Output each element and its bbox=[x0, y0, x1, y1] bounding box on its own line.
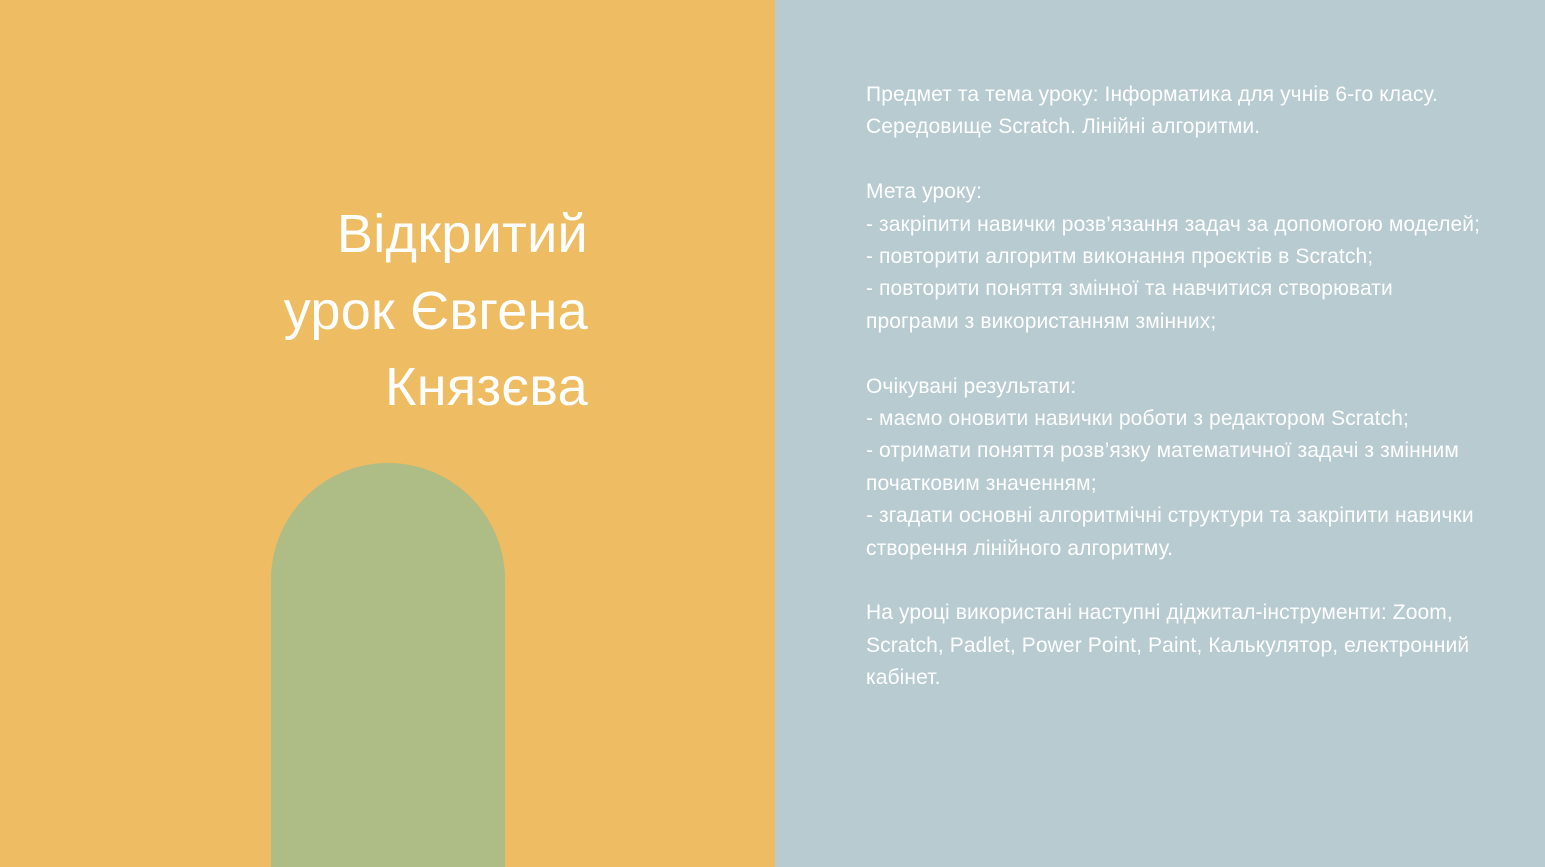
title-container: Відкритий урок Євгена Князєва bbox=[0, 0, 775, 426]
paragraph-spacer bbox=[866, 144, 1486, 176]
expected-results-heading: Очікувані результати: bbox=[866, 371, 1486, 403]
lesson-details-text: Предмет та тема уроку: Інформатика для у… bbox=[866, 79, 1486, 695]
left-panel: Відкритий урок Євгена Князєва bbox=[0, 0, 775, 867]
subject-and-topic-paragraph: Предмет та тема уроку: Інформатика для у… bbox=[866, 79, 1486, 144]
slide-title: Відкритий урок Євгена Князєва bbox=[0, 0, 588, 426]
goal-list: - закріпити навички розв’язання задач за… bbox=[866, 209, 1486, 339]
right-panel: Предмет та тема уроку: Інформатика для у… bbox=[775, 0, 1545, 867]
goal-heading: Мета уроку: bbox=[866, 176, 1486, 208]
expected-results-list: - маємо оновити навички роботи з редакто… bbox=[866, 403, 1486, 565]
arch-decoration-shape bbox=[271, 463, 505, 867]
digital-tools-paragraph: На уроці використані наступні діджитал-і… bbox=[866, 597, 1486, 694]
paragraph-spacer bbox=[866, 565, 1486, 597]
presentation-slide: Відкритий урок Євгена Князєва Предмет та… bbox=[0, 0, 1545, 867]
paragraph-spacer bbox=[866, 338, 1486, 370]
